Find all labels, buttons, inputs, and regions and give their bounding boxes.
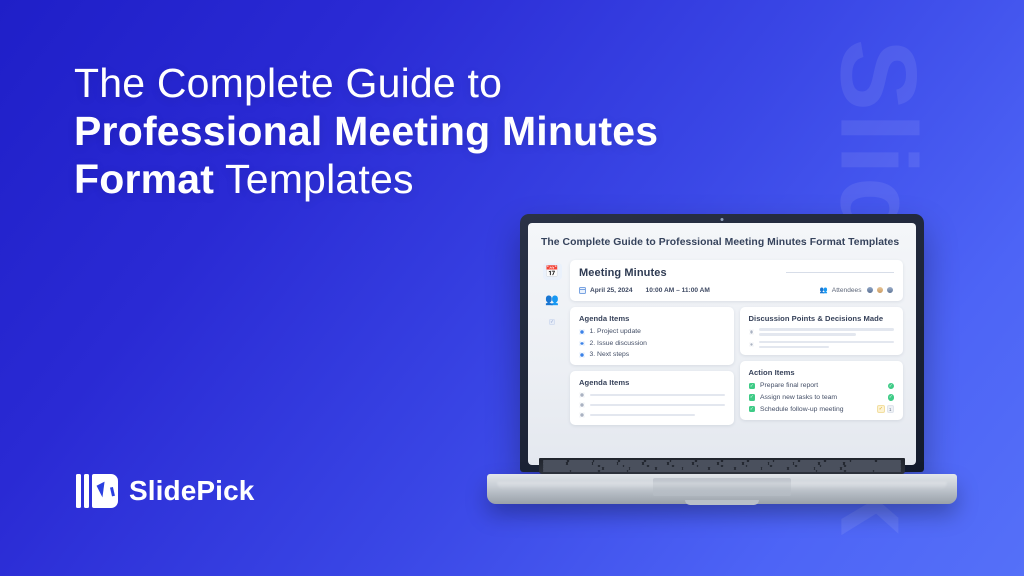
meeting-header-card: Meeting Minutes April 25, 2024 10:00 AM … bbox=[570, 260, 903, 302]
slides-cursor-icon bbox=[76, 470, 118, 512]
webcam-icon bbox=[721, 218, 724, 221]
bullet-icon bbox=[579, 329, 585, 335]
laptop-lid: The Complete Guide to Professional Meeti… bbox=[520, 214, 924, 472]
discussion-points-card: Discussion Points & Decisions Made bbox=[740, 307, 904, 355]
action-items-card: Action Items ✓ Prepare final report ✓ ✓ … bbox=[740, 361, 904, 420]
bullet-icon bbox=[749, 329, 755, 335]
list-item[interactable]: 1. Project update bbox=[579, 328, 725, 335]
list-item bbox=[749, 341, 895, 349]
title-divider bbox=[786, 272, 894, 273]
laptop-base bbox=[487, 474, 957, 504]
poster-stage: SlidePick The Complete Guide to Professi… bbox=[0, 0, 1024, 576]
agenda-items-placeholder-card: Agenda Items bbox=[570, 371, 734, 425]
placeholder-line bbox=[590, 414, 695, 417]
table-row[interactable]: ✓ Schedule follow-up meeting ✓ 1 bbox=[749, 405, 895, 413]
attendee-avatars[interactable] bbox=[866, 286, 895, 295]
headline: The Complete Guide to Professional Meeti… bbox=[74, 60, 714, 204]
laptop-mockup: The Complete Guide to Professional Meeti… bbox=[487, 214, 957, 526]
app-sidebar: 📅 👥 ✓ bbox=[541, 260, 563, 425]
brand-logo[interactable]: SlidePick bbox=[76, 470, 254, 512]
base-shine bbox=[497, 482, 947, 490]
status-badge: 1 bbox=[887, 405, 894, 413]
checkbox-icon[interactable]: ✓ bbox=[749, 383, 756, 390]
meeting-time: 10:00 AM – 11:00 AM bbox=[646, 287, 710, 294]
bullet-icon bbox=[749, 342, 755, 348]
status-check-icon: ✓ bbox=[888, 383, 895, 390]
headline-line-2: Professional Meeting Minutes bbox=[74, 108, 714, 156]
pending-check-icon: ✓ bbox=[877, 405, 885, 413]
action-item-label: Assign new tasks to team bbox=[760, 394, 837, 401]
checkbox-icon[interactable]: ✓ bbox=[749, 406, 756, 413]
agenda-items-card: Agenda Items 1. Project update 2. Issue … bbox=[570, 307, 734, 365]
placeholder-line bbox=[759, 333, 856, 336]
action-items-title: Action Items bbox=[749, 368, 895, 377]
headline-line-1: The Complete Guide to bbox=[74, 60, 714, 108]
placeholder-line bbox=[759, 341, 894, 344]
list-item bbox=[579, 412, 725, 418]
calendar-icon[interactable]: 📅 bbox=[543, 263, 562, 280]
placeholder-line bbox=[590, 404, 725, 407]
meeting-title: Meeting Minutes bbox=[579, 267, 667, 279]
base-notch bbox=[685, 500, 759, 505]
bullet-icon bbox=[579, 352, 585, 358]
checkbox-icon[interactable]: ✓ bbox=[749, 394, 756, 401]
status-check-icon: ✓ bbox=[888, 394, 895, 401]
meeting-date: April 25, 2024 bbox=[590, 287, 633, 294]
attendees-icon: 👥 bbox=[820, 286, 828, 294]
avatar bbox=[876, 286, 885, 295]
headline-line-3-bold: Format bbox=[74, 156, 214, 202]
people-icon[interactable]: 👥 bbox=[543, 291, 562, 308]
list-item bbox=[579, 402, 725, 408]
avatar bbox=[866, 286, 875, 295]
list-item[interactable]: 3. Next steps bbox=[579, 351, 725, 358]
laptop-screen: The Complete Guide to Professional Meeti… bbox=[528, 223, 916, 465]
list-item[interactable]: 2. Issue discussion bbox=[579, 340, 725, 347]
list-item bbox=[749, 328, 895, 336]
slide-title: The Complete Guide to Professional Meeti… bbox=[541, 236, 903, 251]
bullet-icon bbox=[579, 341, 585, 347]
table-row[interactable]: ✓ Prepare final report ✓ bbox=[749, 382, 895, 389]
placeholder-line bbox=[590, 394, 725, 397]
attendees-label: Attendees bbox=[832, 287, 862, 294]
bullet-icon bbox=[579, 392, 585, 398]
action-item-label: Schedule follow-up meeting bbox=[760, 406, 844, 413]
discussion-points-title: Discussion Points & Decisions Made bbox=[749, 314, 895, 323]
keyboard bbox=[539, 458, 905, 474]
check-square-icon[interactable]: ✓ bbox=[549, 319, 556, 326]
placeholder-line bbox=[759, 346, 829, 349]
bullet-icon bbox=[579, 402, 585, 408]
agenda-item-label: 3. Next steps bbox=[590, 351, 630, 358]
brand-logo-text: SlidePick bbox=[129, 475, 254, 507]
bullet-icon bbox=[579, 412, 585, 418]
list-item bbox=[579, 392, 725, 398]
placeholder-line bbox=[759, 328, 894, 331]
table-row[interactable]: ✓ Assign new tasks to team ✓ bbox=[749, 394, 895, 401]
agenda-items-title: Agenda Items bbox=[579, 314, 725, 323]
action-item-label: Prepare final report bbox=[760, 382, 818, 389]
headline-line-3-light: Templates bbox=[214, 156, 414, 202]
agenda-placeholder-title: Agenda Items bbox=[579, 378, 725, 387]
headline-line-3: Format Templates bbox=[74, 156, 714, 204]
avatar bbox=[886, 286, 895, 295]
date-calendar-icon bbox=[579, 287, 586, 294]
agenda-item-label: 2. Issue discussion bbox=[590, 340, 647, 347]
agenda-item-label: 1. Project update bbox=[590, 328, 641, 335]
